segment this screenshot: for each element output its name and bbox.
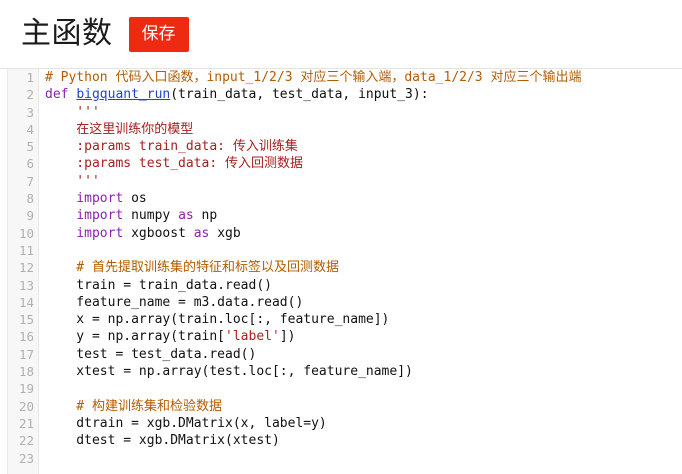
code-line-text: :params test_data: 传入回测数据 <box>45 155 303 172</box>
page-header: 主函数 保存 <box>0 0 682 68</box>
code-line[interactable]: 2def bigquant_run(train_data, test_data,… <box>0 86 682 103</box>
code-line-text: ''' <box>45 104 100 121</box>
code-line[interactable]: 6 :params test_data: 传入回测数据 <box>0 155 682 172</box>
code-token: os <box>123 191 146 206</box>
line-number: 20 <box>7 398 34 415</box>
code-token: ''' <box>45 105 100 120</box>
code-token: as <box>194 226 210 241</box>
code-line[interactable]: 14 feature_name = m3.data.read() <box>0 294 682 311</box>
line-number: 10 <box>7 225 34 242</box>
code-token: xgboost <box>123 226 193 241</box>
code-token: import <box>45 226 123 241</box>
line-number: 1 <box>7 69 34 86</box>
code-token: x = np.array(train.loc[:, feature_name]) <box>45 312 389 327</box>
line-number: 15 <box>7 311 34 328</box>
code-line[interactable]: 22 dtest = xgb.DMatrix(xtest) <box>0 432 682 449</box>
line-number: 2 <box>7 86 34 103</box>
code-token: np <box>194 208 217 223</box>
line-number: 23 <box>7 450 34 467</box>
save-button[interactable]: 保存 <box>129 17 189 52</box>
code-line-text: def bigquant_run(train_data, test_data, … <box>45 86 429 103</box>
code-line[interactable]: 15 x = np.array(train.loc[:, feature_nam… <box>0 311 682 328</box>
code-line[interactable]: 8 import os <box>0 190 682 207</box>
code-line[interactable]: 18 xtest = np.array(test.loc[:, feature_… <box>0 363 682 380</box>
line-number: 19 <box>7 380 34 397</box>
code-line-text: import xgboost as xgb <box>45 225 241 242</box>
code-line-text: # 构建训练集和检验数据 <box>45 398 222 415</box>
line-number: 11 <box>7 242 34 259</box>
code-line[interactable]: 17 test = test_data.read() <box>0 346 682 363</box>
code-line[interactable]: 4 在这里训练你的模型 <box>0 121 682 138</box>
code-line-text: 在这里训练你的模型 <box>45 121 193 138</box>
code-token: 'label' <box>225 329 280 344</box>
code-line[interactable]: 11 <box>0 242 682 259</box>
code-token: (train_data, test_data, input_3): <box>170 87 428 102</box>
code-token: import <box>45 191 123 206</box>
code-line[interactable]: 16 y = np.array(train['label']) <box>0 328 682 345</box>
code-token: # 首先提取训练集的特征和标签以及回测数据 <box>45 260 339 275</box>
line-number: 9 <box>7 207 34 224</box>
line-number: 8 <box>7 190 34 207</box>
code-line[interactable]: 10 import xgboost as xgb <box>0 225 682 242</box>
line-number: 22 <box>7 432 34 449</box>
code-line-text: xtest = np.array(test.loc[:, feature_nam… <box>45 363 413 380</box>
code-token: import <box>45 208 123 223</box>
code-token: test = test_data.read() <box>45 347 256 362</box>
code-line-text: ''' <box>45 173 100 190</box>
code-token: dtest = xgb.DMatrix(xtest) <box>45 433 280 448</box>
code-line-text: # Python 代码入口函数，input_1/2/3 对应三个输入端，data… <box>45 69 581 86</box>
code-token: 在这里训练你的模型 <box>45 122 193 137</box>
code-line-text: x = np.array(train.loc[:, feature_name]) <box>45 311 389 328</box>
code-token: as <box>178 208 194 223</box>
code-line[interactable]: 23 <box>0 450 682 467</box>
code-token: bigquant_run <box>76 87 170 102</box>
code-token: ]) <box>280 329 296 344</box>
code-token: xtest = np.array(test.loc[:, feature_nam… <box>45 364 413 379</box>
line-number: 7 <box>7 173 34 190</box>
code-line[interactable]: 5 :params train_data: 传入训练集 <box>0 138 682 155</box>
code-line-text: import os <box>45 190 147 207</box>
code-line-text: feature_name = m3.data.read() <box>45 294 303 311</box>
code-line-text: train = train_data.read() <box>45 277 272 294</box>
line-number: 21 <box>7 415 34 432</box>
line-number: 16 <box>7 328 34 345</box>
code-line[interactable]: 9 import numpy as np <box>0 207 682 224</box>
code-token: y = np.array(train[ <box>45 329 225 344</box>
line-number: 3 <box>7 104 34 121</box>
code-line-text: import numpy as np <box>45 207 217 224</box>
line-number: 5 <box>7 138 34 155</box>
line-number: 13 <box>7 277 34 294</box>
code-token: # 构建训练集和检验数据 <box>45 399 222 414</box>
code-token: :params test_data: 传入回测数据 <box>45 156 303 171</box>
code-token: def <box>45 87 76 102</box>
code-token: train = train_data.read() <box>45 278 272 293</box>
code-content-area[interactable]: 1# Python 代码入口函数，input_1/2/3 对应三个输入端，dat… <box>0 69 682 474</box>
code-line[interactable]: 13 train = train_data.read() <box>0 277 682 294</box>
code-line[interactable]: 1# Python 代码入口函数，input_1/2/3 对应三个输入端，dat… <box>0 69 682 86</box>
code-line[interactable]: 19 <box>0 380 682 397</box>
code-line[interactable]: 21 dtrain = xgb.DMatrix(x, label=y) <box>0 415 682 432</box>
code-editor[interactable]: 1# Python 代码入口函数，input_1/2/3 对应三个输入端，dat… <box>0 68 682 474</box>
code-line-text: :params train_data: 传入训练集 <box>45 138 298 155</box>
page-title: 主函数 <box>21 17 113 51</box>
line-number: 6 <box>7 155 34 172</box>
line-number: 14 <box>7 294 34 311</box>
line-number: 12 <box>7 259 34 276</box>
code-line[interactable]: 12 # 首先提取训练集的特征和标签以及回测数据 <box>0 259 682 276</box>
code-line-text: test = test_data.read() <box>45 346 256 363</box>
line-number: 17 <box>7 346 34 363</box>
code-token: dtrain = xgb.DMatrix(x, label=y) <box>45 416 327 431</box>
code-token: numpy <box>123 208 178 223</box>
code-line-text: dtrain = xgb.DMatrix(x, label=y) <box>45 415 327 432</box>
code-line[interactable]: 7 ''' <box>0 173 682 190</box>
line-number: 4 <box>7 121 34 138</box>
code-line-text: # 首先提取训练集的特征和标签以及回测数据 <box>45 259 339 276</box>
code-token: # Python 代码入口函数，input_1/2/3 对应三个输入端，data… <box>45 70 581 85</box>
code-line-text: dtest = xgb.DMatrix(xtest) <box>45 432 280 449</box>
line-number: 18 <box>7 363 34 380</box>
code-line-text: y = np.array(train['label']) <box>45 328 295 345</box>
code-token: :params train_data: 传入训练集 <box>45 139 298 154</box>
code-token: feature_name = m3.data.read() <box>45 295 303 310</box>
code-token: xgb <box>209 226 240 241</box>
code-line[interactable]: 20 # 构建训练集和检验数据 <box>0 398 682 415</box>
code-token: ''' <box>45 174 100 189</box>
code-line[interactable]: 3 ''' <box>0 104 682 121</box>
